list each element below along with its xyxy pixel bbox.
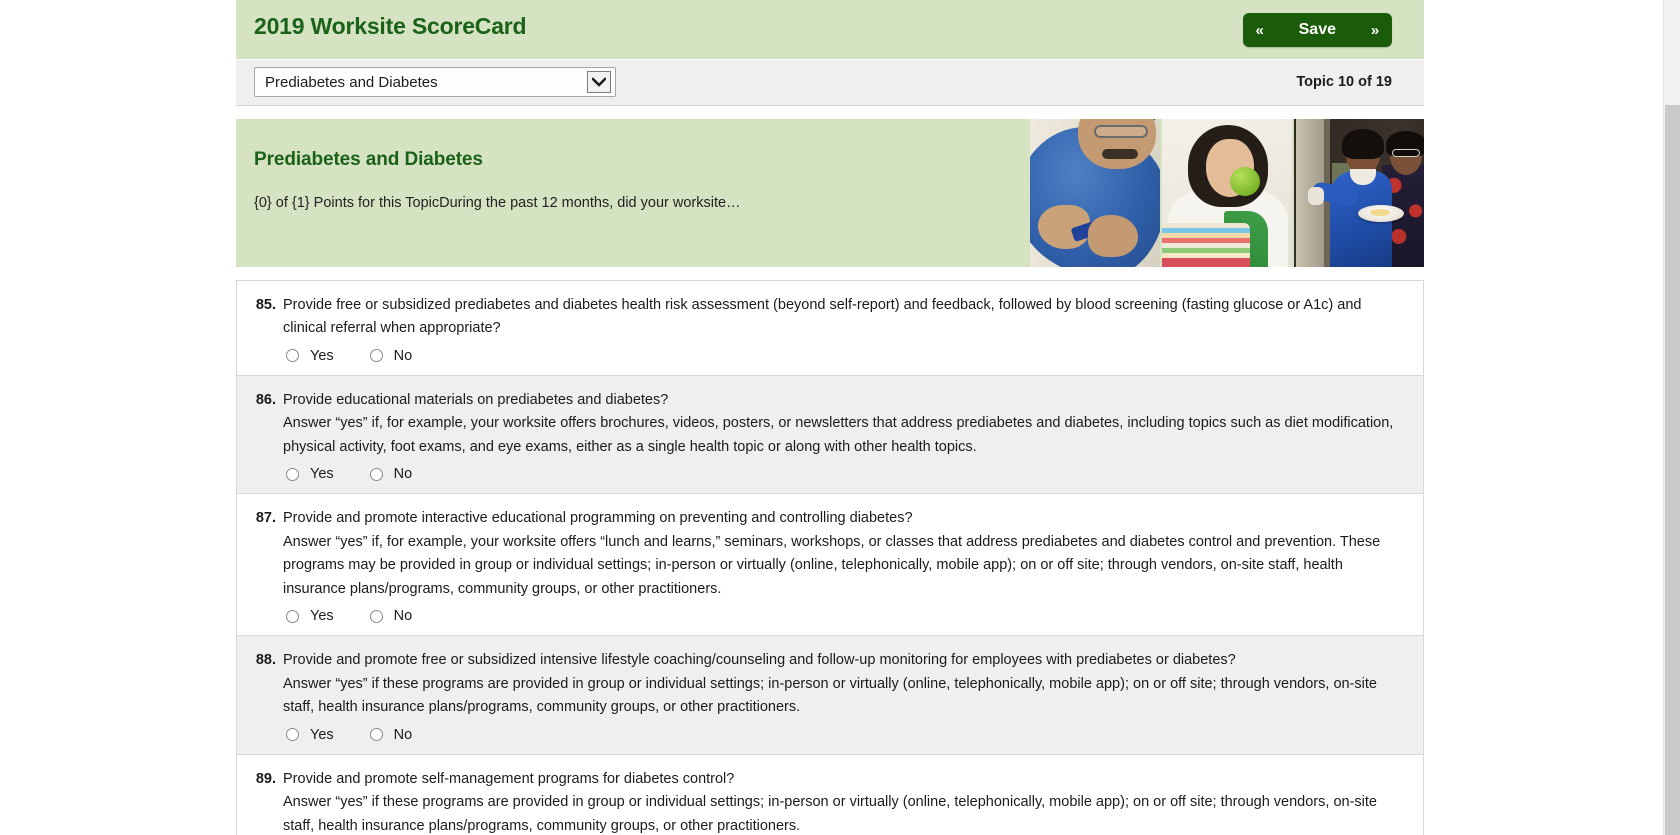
option-yes-label: Yes [310,727,334,743]
banner-title: Prediabetes and Diabetes [254,149,944,171]
question-row-87: 87. Provide and promote interactive educ… [236,493,1424,635]
content-column: 2019 Worksite ScoreCard « Save » Prediab… [236,0,1424,835]
radio-yes-icon[interactable] [286,610,299,623]
option-yes[interactable]: Yes [286,348,334,364]
question-text: Provide free or subsidized prediabetes a… [283,294,1405,341]
page-root: 2019 Worksite ScoreCard « Save » Prediab… [0,0,1680,835]
banner-photo-strip [1030,119,1424,267]
question-text: Provide educational materials on prediab… [283,389,1405,412]
next-topic-button[interactable]: » [1358,13,1392,47]
question-text: Provide and promote interactive educatio… [283,507,1405,530]
option-no-label: No [394,466,413,482]
option-yes-label: Yes [310,608,334,624]
question-options: Yes No [283,727,1405,743]
save-button-group: « Save » [1243,13,1392,47]
page-title: 2019 Worksite ScoreCard [254,13,526,40]
scrollbar-thumb[interactable] [1665,105,1680,835]
topic-select[interactable]: Prediabetes and Diabetes [254,67,616,97]
option-no-label: No [394,608,413,624]
option-yes[interactable]: Yes [286,466,334,482]
question-number: 88. [255,649,283,672]
radio-no-icon[interactable] [370,610,383,623]
photo-blood-glucose-test [1030,119,1160,267]
question-options: Yes No [283,348,1405,364]
question-number: 87. [255,507,283,530]
banner-text: Prediabetes and Diabetes {0} of {1} Poin… [254,149,944,213]
option-no[interactable]: No [370,466,413,482]
option-yes[interactable]: Yes [286,608,334,624]
option-no[interactable]: No [370,727,413,743]
question-number: 85. [255,294,283,317]
option-no[interactable]: No [370,348,413,364]
radio-yes-icon[interactable] [286,728,299,741]
radio-no-icon[interactable] [370,349,383,362]
option-no[interactable]: No [370,608,413,624]
question-row-85: 85. Provide free or subsidized prediabet… [236,280,1424,375]
page-scrollbar[interactable] [1663,0,1680,835]
topic-counter: Topic 10 of 19 [1296,74,1392,90]
photo-women-with-plate [1294,119,1424,267]
photo-woman-eating-apple [1162,119,1292,267]
radio-yes-icon[interactable] [286,468,299,481]
previous-topic-button[interactable]: « [1243,13,1277,47]
app-header: 2019 Worksite ScoreCard « Save » [236,0,1424,60]
option-yes-label: Yes [310,348,334,364]
save-button[interactable]: Save [1277,13,1358,47]
topic-select-value: Prediabetes and Diabetes [255,74,438,91]
question-row-89: 89. Provide and promote self-management … [236,754,1424,835]
banner-subtitle: {0} of {1} Points for this TopicDuring t… [254,193,944,213]
question-row-88: 88. Provide and promote free or subsidiz… [236,635,1424,753]
topic-bar: Prediabetes and Diabetes Topic 10 of 19 [236,60,1424,106]
question-row-86: 86. Provide educational materials on pre… [236,375,1424,493]
topic-banner: Prediabetes and Diabetes {0} of {1} Poin… [236,119,1424,267]
question-help-text: Answer “yes” if these programs are provi… [283,673,1405,720]
chevron-down-icon[interactable] [587,71,611,93]
option-yes[interactable]: Yes [286,727,334,743]
option-no-label: No [394,727,413,743]
question-help-text: Answer “yes” if, for example, your works… [283,531,1405,601]
question-help-text: Answer “yes” if these programs are provi… [283,791,1405,835]
question-list: 85. Provide free or subsidized prediabet… [236,280,1424,835]
question-text: Provide and promote free or subsidized i… [283,649,1405,672]
question-options: Yes No [283,608,1405,624]
radio-no-icon[interactable] [370,468,383,481]
option-yes-label: Yes [310,466,334,482]
question-number: 89. [255,768,283,791]
question-text: Provide and promote self-management prog… [283,768,1405,791]
radio-yes-icon[interactable] [286,349,299,362]
question-number: 86. [255,389,283,412]
question-help-text: Answer “yes” if, for example, your works… [283,412,1405,459]
question-options: Yes No [283,466,1405,482]
option-no-label: No [394,348,413,364]
radio-no-icon[interactable] [370,728,383,741]
